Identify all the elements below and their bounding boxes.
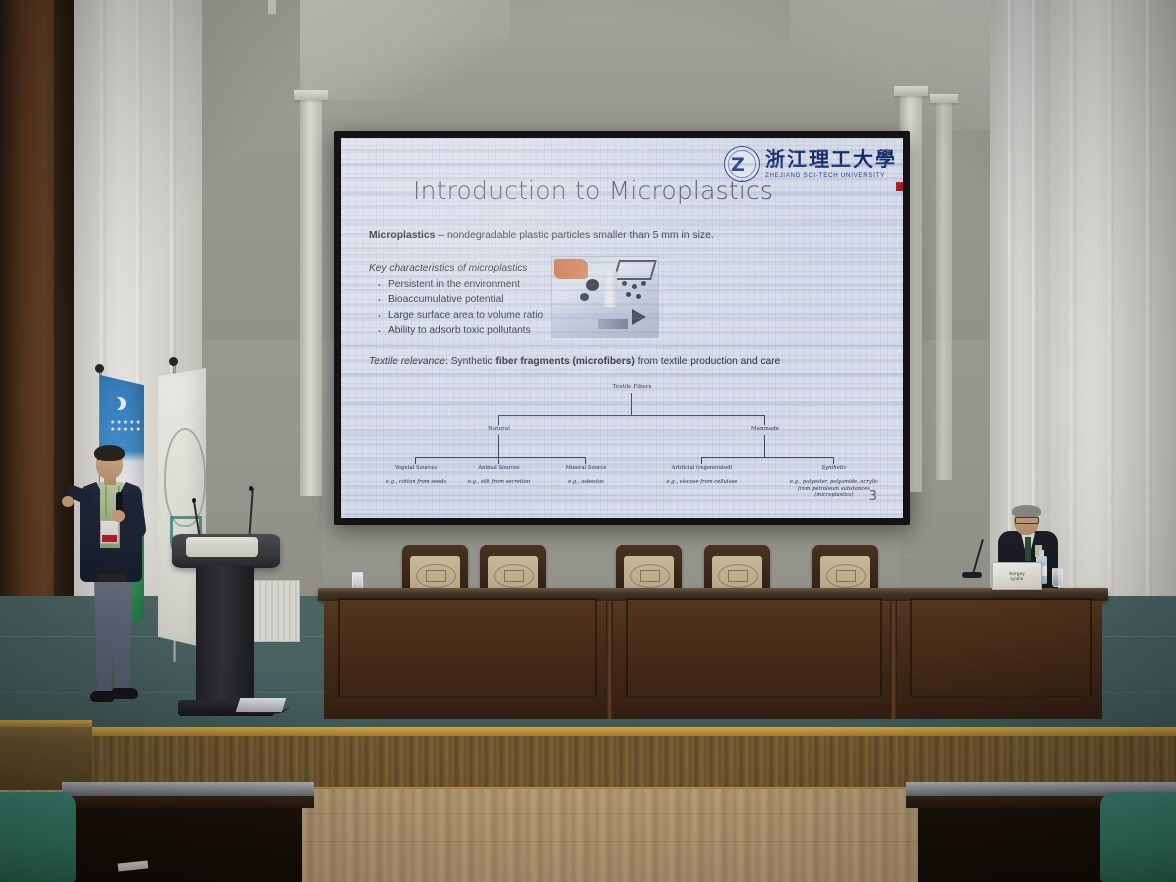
tree-drop-5	[833, 457, 834, 464]
textile-relevance-line: Textile relevance: Synthetic fiber fragm…	[369, 356, 780, 367]
presenter-speaker	[62, 448, 158, 720]
presenter-legs	[94, 579, 132, 695]
tree-example-mineral: e.g., asbestos	[553, 479, 619, 486]
pilaster-far-right	[936, 100, 952, 480]
table-panel	[626, 598, 882, 698]
tree-line-manmade-children-bar	[701, 457, 833, 458]
podium-microphone-head-left	[192, 498, 196, 503]
pilaster-capital-left	[294, 90, 328, 100]
chairman-glasses-icon	[1015, 517, 1039, 524]
tree-example-vegetal: e.g., cotton from seeds	[381, 479, 451, 486]
tree-leaf-artificial: Artificial (regenerated)	[653, 465, 751, 472]
chairman-hair	[1012, 505, 1041, 517]
table-microphone-base	[962, 572, 982, 578]
tree-line-manmade-stem	[764, 435, 765, 457]
textile-relevance-label: Textile relevance	[369, 356, 445, 367]
lead-rest: – nondegradable plastic particles smalle…	[435, 230, 713, 241]
podium-microphone-head-right	[249, 486, 253, 491]
tree-example-synthetic: e.g., polyester, polyamide, acrylic from…	[787, 479, 881, 499]
table-divider	[606, 601, 613, 719]
slide-page-number: 3	[869, 489, 877, 504]
university-name-english: ZHEJIANG SCI-TECH UNIVERSITY	[765, 172, 897, 179]
tree-leaf-mineral: Mineral Source	[553, 465, 619, 472]
textile-relevance-bold: fiber fragments (microfibers)	[495, 356, 634, 367]
podium-reading-tray	[186, 537, 258, 557]
presenter-shoe-left	[90, 691, 114, 702]
presenter-hand-right	[112, 510, 125, 522]
slide-title: Introduction to Microplastics	[413, 176, 773, 205]
seal-letter: Z	[731, 154, 752, 174]
tree-drop-1	[415, 457, 416, 464]
tree-example-animal: e.g., silk from secretion	[465, 479, 533, 486]
tree-line-natural-stem	[498, 435, 499, 457]
textile-fiber-tree-diagram: Textile Fibers Natural Manmade	[361, 384, 889, 504]
tree-line-root-stem	[631, 393, 632, 415]
red-flag-icon	[896, 182, 903, 191]
institution-emblem-icon	[164, 428, 206, 527]
tree-line-natural-drop	[498, 415, 499, 425]
textile-relevance-mid: : Synthetic	[445, 356, 495, 367]
presenter-badge	[100, 520, 119, 544]
tree-line-manmade-drop	[764, 415, 765, 425]
flag-stars: ★★★★★★★★★★	[110, 419, 136, 437]
audience-desk-left[interactable]	[62, 782, 314, 882]
microplastics-photo	[551, 256, 659, 338]
tree-root-label: Textile Fibers	[587, 384, 677, 391]
tree-example-artificial: e.g., viscose from cellulose	[661, 479, 743, 486]
tree-level2-natural: Natural	[468, 426, 530, 433]
presenter-glasses-icon	[97, 459, 121, 465]
tree-drop-2	[498, 457, 499, 464]
floor-monitor	[236, 698, 287, 712]
presenter-shoe-right	[112, 688, 138, 699]
presentation-slide: Z 浙江理工大學 ZHEJIANG SCI-TECH UNIVERSITY In…	[341, 138, 903, 518]
table-panel	[338, 598, 597, 698]
crescent-icon	[108, 397, 121, 410]
presenter-belt	[98, 574, 126, 581]
flagpole-finial-right	[169, 357, 178, 366]
projection-screen[interactable]: Z 浙江理工大學 ZHEJIANG SCI-TECH UNIVERSITY In…	[334, 131, 910, 525]
university-name-chinese: 浙江理工大學	[765, 149, 897, 169]
podium-column[interactable]	[196, 566, 254, 706]
conference-hall-scene: Z 浙江理工大學 ZHEJIANG SCI-TECH UNIVERSITY In…	[0, 0, 1176, 882]
lead-term: Microplastics	[369, 230, 435, 241]
pilaster-left	[300, 96, 322, 496]
nameplate-line-2: Lyulin	[1010, 576, 1023, 581]
screen-display-area: Z 浙江理工大學 ZHEJIANG SCI-TECH UNIVERSITY In…	[341, 138, 903, 518]
stage-side-block-left-trim	[0, 720, 92, 727]
table-panel	[910, 598, 1092, 698]
tree-line-natural-children-bar	[415, 457, 585, 458]
flagpole-finial-left	[95, 364, 104, 373]
audience-chair-right[interactable]	[1100, 792, 1176, 882]
pilaster-capital-right	[894, 86, 928, 96]
tree-leaf-synthetic: Synthetic	[801, 465, 867, 472]
water-glass	[1052, 568, 1063, 587]
lead-definition: Microplastics – nondegradable plastic pa…	[369, 230, 883, 241]
table-divider	[890, 601, 897, 719]
chairman-tie	[1025, 537, 1031, 561]
tree-drop-4	[701, 457, 702, 464]
tree-level2-manmade: Manmade	[734, 426, 796, 433]
tree-leaf-animal: Animal Sources	[465, 465, 533, 472]
tree-line-level2-bar	[498, 415, 764, 416]
chairman-nameplate: Sergey Lyulin	[992, 562, 1042, 590]
tree-leaf-vegetal: Vegetal Sources	[381, 465, 451, 472]
stage-gold-trim	[0, 727, 1176, 736]
pilaster-capital-far-right	[930, 94, 958, 103]
stage-side-block-left	[0, 720, 92, 790]
textile-relevance-end: from textile production and care	[635, 356, 781, 367]
presidium-table	[318, 588, 1108, 724]
audience-chair-left[interactable]	[0, 792, 76, 882]
presenter-hand-left	[62, 496, 74, 507]
tree-drop-3	[585, 457, 586, 464]
